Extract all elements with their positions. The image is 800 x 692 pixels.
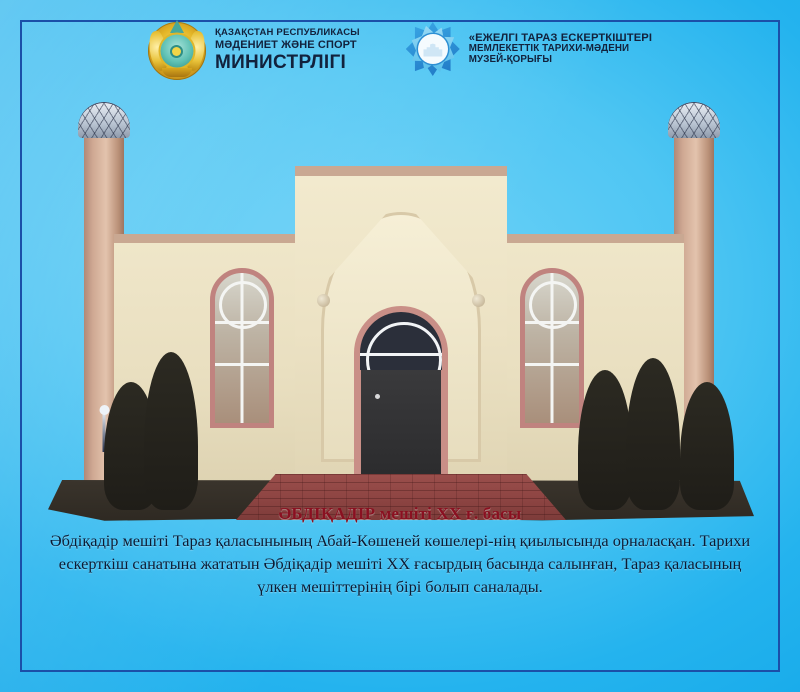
- wall-lamp: [472, 294, 485, 307]
- window-horizontal-mullion: [215, 321, 269, 324]
- arched-window: [210, 268, 274, 428]
- ministry-logo-block: ҚАЗАҚСТАН РЕСПУБЛИКАСЫ МӘДЕНИЕТ ЖӘНЕ СПО…: [148, 22, 360, 80]
- eight-point-star-rosette-icon: [406, 22, 460, 76]
- emblem-crown-shape: [170, 20, 184, 33]
- entrance-door-frame: [354, 306, 448, 478]
- window-horizontal-mullion: [525, 363, 579, 366]
- header-logos: ҚАЗАҚСТАН РЕСПУБЛИКАСЫ МӘДЕНИЕТ ЖӘНЕ СПО…: [0, 22, 800, 94]
- window-horizontal-mullion: [525, 321, 579, 324]
- ministry-line-1: ҚАЗАҚСТАН РЕСПУБЛИКАСЫ: [215, 28, 360, 39]
- poster-canvas: ҚАЗАҚСТАН РЕСПУБЛИКАСЫ МӘДЕНИЕТ ЖӘНЕ СПО…: [0, 0, 800, 692]
- caption-body: Әбдіқадір мешіті Тараз қаласынының Абай-…: [44, 529, 756, 598]
- kazakhstan-state-emblem-icon: [148, 22, 206, 80]
- museum-logo-block: «ЕЖЕЛГІ ТАРАЗ ЕСКЕРТКІШТЕРІ МЕМЛЕКЕТТІК …: [406, 22, 652, 76]
- door-knob: [375, 394, 380, 399]
- ministry-line-2: МӘДЕНИЕТ ЖӘНЕ СПОРТ: [215, 39, 360, 51]
- emblem-shanyrak-shape: [160, 35, 193, 68]
- ministry-line-3: МИНИСТРЛІГІ: [215, 52, 360, 73]
- museum-line-3: МУЗЕЙ-ҚОРЫҒЫ: [469, 55, 652, 66]
- arched-window: [520, 268, 584, 428]
- wall-lamp: [317, 294, 330, 307]
- museum-logo-text: «ЕЖЕЛГІ ТАРАЗ ЕСКЕРТКІШТЕРІ МЕМЛЕКЕТТІК …: [469, 32, 652, 66]
- emblem-base-shape: [162, 68, 192, 77]
- caption-title: ӘБДІҚАДІР мешіті XX ғ. басы: [44, 504, 756, 524]
- window-vertical-mullion: [551, 273, 554, 423]
- mosque-central-portal: [295, 166, 507, 484]
- conifer-tree: [680, 382, 734, 510]
- window-vertical-mullion: [241, 273, 244, 423]
- ministry-logo-text: ҚАЗАҚСТАН РЕСПУБЛИКАСЫ МӘДЕНИЕТ ЖӘНЕ СПО…: [215, 28, 360, 73]
- window-horizontal-mullion: [215, 363, 269, 366]
- abdikadir-mosque-photo: [48, 92, 754, 484]
- left-minaret-dome: [78, 102, 130, 138]
- right-minaret-dome: [668, 102, 720, 138]
- caption-block: ӘБДІҚАДІР мешіті XX ғ. басы Әбдіқадір ме…: [44, 504, 756, 598]
- entrance-door: [361, 370, 441, 474]
- entrance-fanlight: [360, 312, 442, 370]
